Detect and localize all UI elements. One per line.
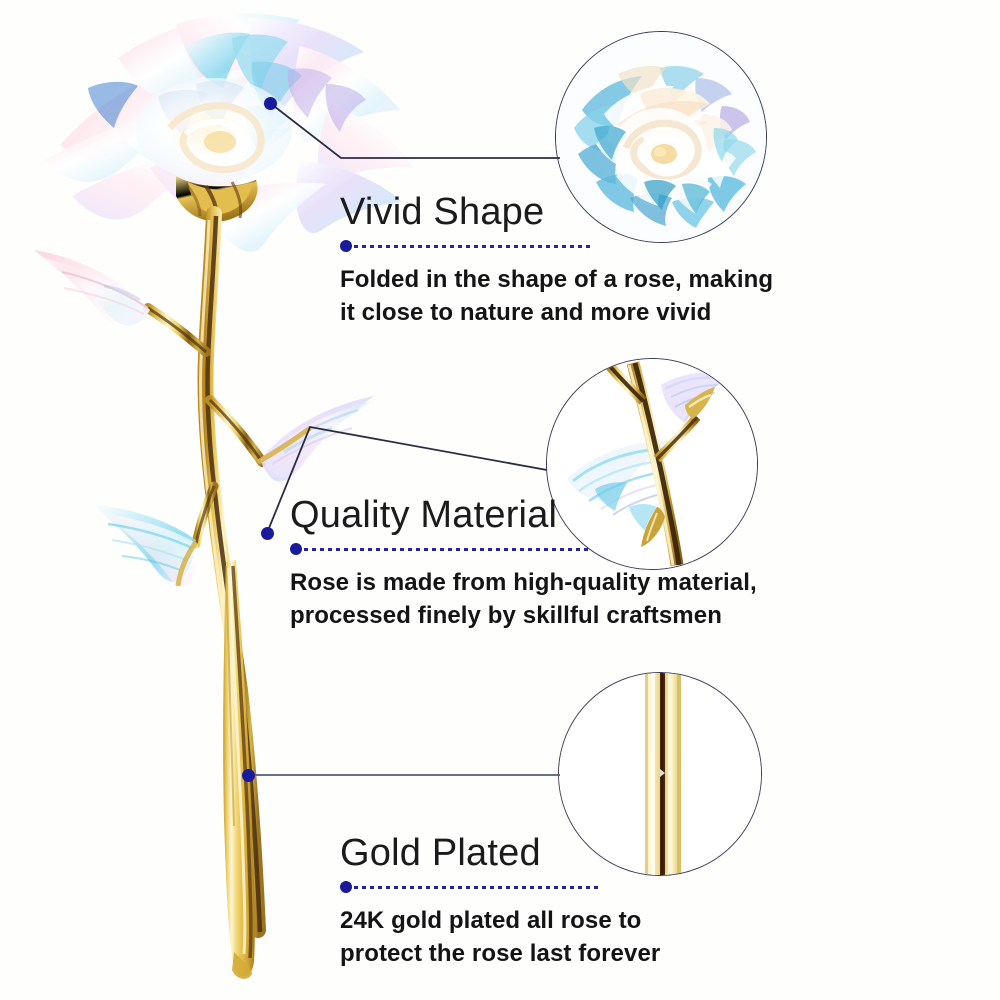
feature-vivid-shape: Vivid Shape Folded in the shape of a ros… (340, 193, 773, 329)
bullet-dot (340, 881, 352, 893)
bullet-dot (290, 543, 302, 555)
feature-quality-material: Quality Material Rose is made from high-… (290, 496, 757, 632)
feature-title: Quality Material (290, 496, 757, 534)
feature-rule (290, 543, 757, 555)
bullet-dot (340, 240, 352, 252)
feature-title: Vivid Shape (340, 193, 773, 231)
feature-description: Rose is made from high-quality material,… (290, 566, 757, 632)
dotted-underline (354, 886, 598, 889)
anchor-dot-gold-plated (242, 769, 255, 782)
feature-rule (340, 240, 773, 252)
anchor-dot-quality-material (261, 527, 274, 540)
feature-description: 24K gold plated all rose to protect the … (340, 904, 660, 970)
rose-stem (148, 214, 262, 932)
leaf-right (258, 396, 374, 482)
dotted-underline (304, 548, 590, 551)
leader-line-1 (270, 103, 560, 158)
feature-gold-plated: Gold Plated 24K gold plated all rose to … (340, 834, 660, 970)
feature-rule (340, 881, 660, 893)
infographic-canvas: Vivid Shape Folded in the shape of a ros… (0, 0, 1000, 1000)
feature-description: Folded in the shape of a rose, making it… (340, 263, 773, 329)
feature-title: Gold Plated (340, 834, 660, 872)
anchor-dot-vivid-shape (264, 97, 277, 110)
dotted-underline (354, 245, 594, 248)
leaf-upper-left (34, 250, 150, 328)
leaf-lower-left (92, 504, 198, 586)
